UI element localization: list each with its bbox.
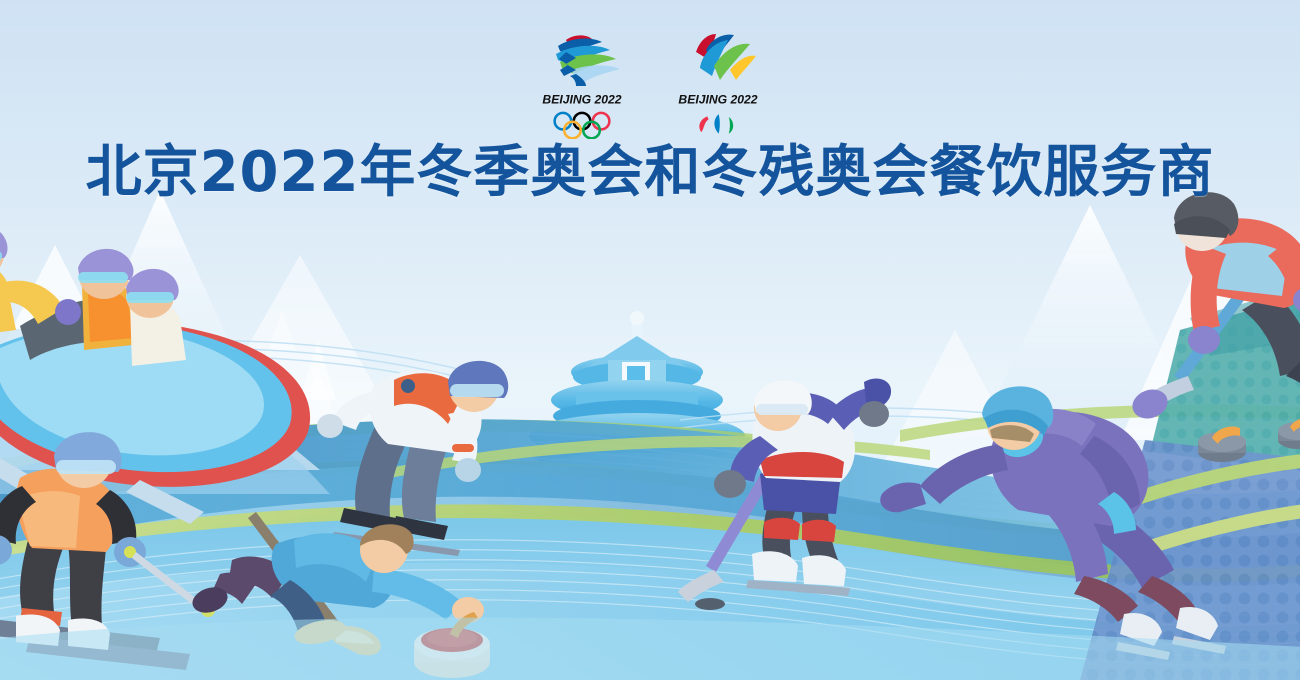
olympic-wordmark-text: BEIJING 2022 bbox=[542, 92, 621, 106]
olympic-banner: BEIJING 2022 BEIJING bbox=[0, 0, 1300, 680]
bobsleigh-athlete-3 bbox=[126, 269, 186, 366]
olympic-wordmark: BEIJING 2022 bbox=[539, 91, 625, 107]
olympic-rings-icon bbox=[547, 111, 617, 139]
beijing-2022-olympic-emblem: BEIJING 2022 bbox=[528, 32, 636, 139]
paralympic-wordmark: BEIJING 2022 bbox=[675, 91, 761, 107]
beijing-2022-paralympic-emblem: BEIJING 2022 bbox=[664, 32, 772, 138]
paralympic-wordmark-text: BEIJING 2022 bbox=[678, 92, 757, 106]
olympic-emblem-icon bbox=[536, 32, 628, 88]
page-title: 北京2022年冬季奥会和冬残奥会餐饮服务商 bbox=[0, 142, 1300, 205]
emblem-row: BEIJING 2022 BEIJING bbox=[0, 32, 1300, 139]
paralympic-emblem-icon bbox=[672, 32, 764, 88]
main-title-text: 北京2022年冬季奥会和冬残奥会餐饮服务商 bbox=[86, 142, 1215, 205]
paralympic-agitos-icon bbox=[692, 112, 744, 138]
